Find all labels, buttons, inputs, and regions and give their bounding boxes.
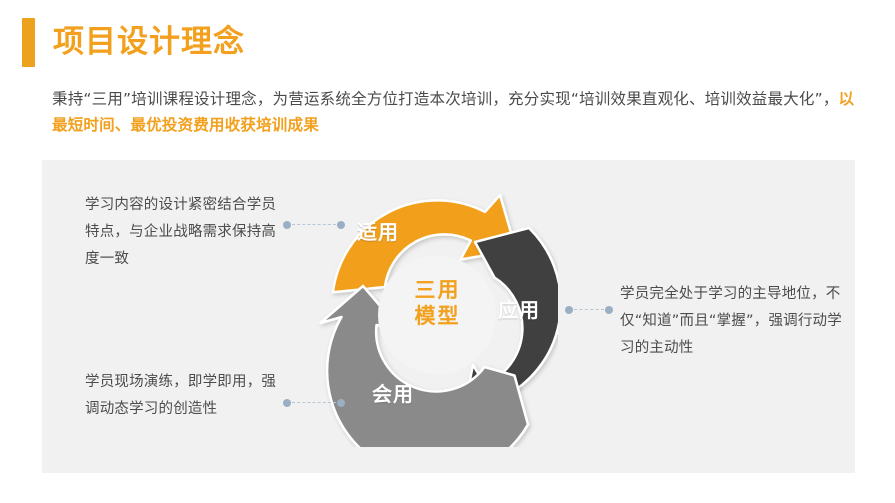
connector-dot-icon — [605, 306, 613, 314]
segment-label-shiyong: 适用 — [357, 216, 399, 245]
connector-dash-icon — [292, 224, 336, 225]
connector-dot-icon — [565, 306, 573, 314]
connector-dot-icon — [337, 399, 345, 407]
segment-label-huiyong: 会用 — [372, 378, 414, 407]
page-subtitle: 秉持“三用”培训课程设计理念，为营运系统全方位打造本次培训，充分实现“培训效果直… — [52, 86, 862, 138]
connector-yingyong — [565, 305, 613, 314]
segment-label-yingyong: 应用 — [498, 294, 540, 323]
center-label-line2: 模型 — [385, 303, 490, 329]
connector-dot-icon — [337, 221, 345, 229]
connector-dash-icon — [292, 402, 336, 403]
connector-huiyong — [283, 398, 345, 407]
page-title: 项目设计理念 — [53, 18, 245, 67]
diagram-center-label: 三用 模型 — [385, 277, 490, 329]
accent-bar-icon — [22, 18, 35, 67]
connector-dash-icon — [574, 309, 604, 310]
callout-yingyong: 学员完全处于学习的主导地位，不仅“知道”而且“掌握”，强调行动学习的主动性 — [620, 281, 855, 362]
center-label-line1: 三用 — [385, 277, 490, 303]
subtitle-plain: 秉持“三用”培训课程设计理念，为营运系统全方位打造本次培训，充分实现“培训效果直… — [52, 90, 839, 108]
page-header: 项目设计理念 — [22, 18, 245, 67]
callout-huiyong: 学员现场演练，即学即用，强调动态学习的创造性 — [85, 369, 285, 423]
slide-root: 项目设计理念 秉持“三用”培训课程设计理念，为营运系统全方位打造本次培训，充分实… — [0, 0, 895, 503]
connector-shiyong — [283, 220, 345, 229]
callout-shiyong: 学习内容的设计紧密结合学员特点，与企业战略需求保持高度一致 — [85, 192, 285, 273]
